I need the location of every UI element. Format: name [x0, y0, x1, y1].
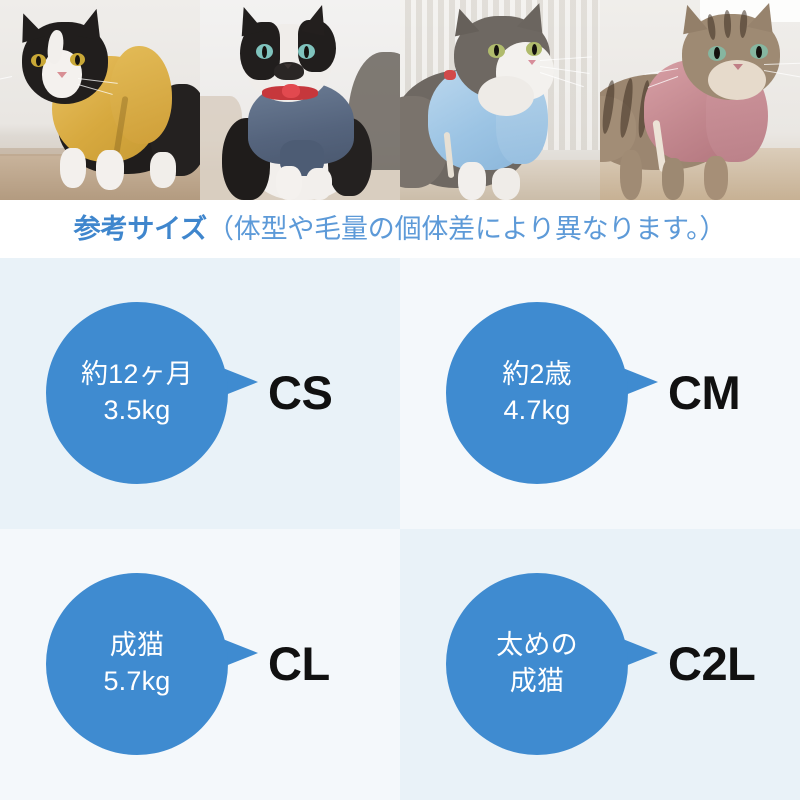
size-cell-c2l: 太めの 成猫 C2L [400, 529, 800, 800]
size-bubble-c2l: 太めの 成猫 C2L [446, 573, 746, 755]
size-bubble-cl: 成猫 5.7kg CL [46, 573, 346, 755]
bubble-circle: 約12ヶ月 3.5kg [46, 302, 228, 484]
size-label-cm: CM [668, 352, 800, 432]
size-cell-cm: 約2歳 4.7kg CM [400, 258, 800, 529]
cat-photo-3 [400, 0, 600, 200]
size-grid: 約12ヶ月 3.5kg CS 約2歳 4.7kg CM 成猫 [0, 258, 800, 800]
cat-photo-2 [200, 0, 400, 200]
cat-photo-strip [0, 0, 800, 200]
bubble-circle: 約2歳 4.7kg [446, 302, 628, 484]
size-label-cl: CL [268, 623, 400, 703]
bubble-line-1: 太めの [496, 628, 578, 664]
size-cell-cl: 成猫 5.7kg CL [0, 529, 400, 800]
size-cell-cs: 約12ヶ月 3.5kg CS [0, 258, 400, 529]
section-heading: 参考サイズ（体型や毛量の個体差により異なります。） [0, 200, 800, 258]
size-label-cs: CS [268, 352, 400, 432]
size-bubble-cs: 約12ヶ月 3.5kg CS [46, 302, 346, 484]
bubble-line-1: 約12ヶ月 [81, 357, 193, 393]
bubble-line-1: 成猫 [110, 628, 164, 664]
heading-text: 参考サイズ（体型や毛量の個体差により異なります。） [74, 216, 726, 243]
bubble-line-2: 4.7kg [503, 393, 570, 429]
cat-photo-4 [600, 0, 800, 200]
bubble-line-1: 約2歳 [502, 357, 572, 393]
size-label-c2l: C2L [668, 623, 800, 703]
bubble-circle: 成猫 5.7kg [46, 573, 228, 755]
bubble-line-2: 3.5kg [103, 393, 170, 429]
size-bubble-cm: 約2歳 4.7kg CM [446, 302, 746, 484]
size-guide-page: 参考サイズ（体型や毛量の個体差により異なります。） 約12ヶ月 3.5kg CS… [0, 0, 800, 800]
heading-light-text: （体型や毛量の個体差により異なります。） [207, 214, 726, 244]
heading-strong-text: 参考サイズ [74, 214, 207, 244]
bubble-circle: 太めの 成猫 [446, 573, 628, 755]
bubble-line-2: 5.7kg [103, 664, 170, 700]
bubble-line-2: 成猫 [510, 664, 564, 700]
cat-photo-1 [0, 0, 200, 200]
